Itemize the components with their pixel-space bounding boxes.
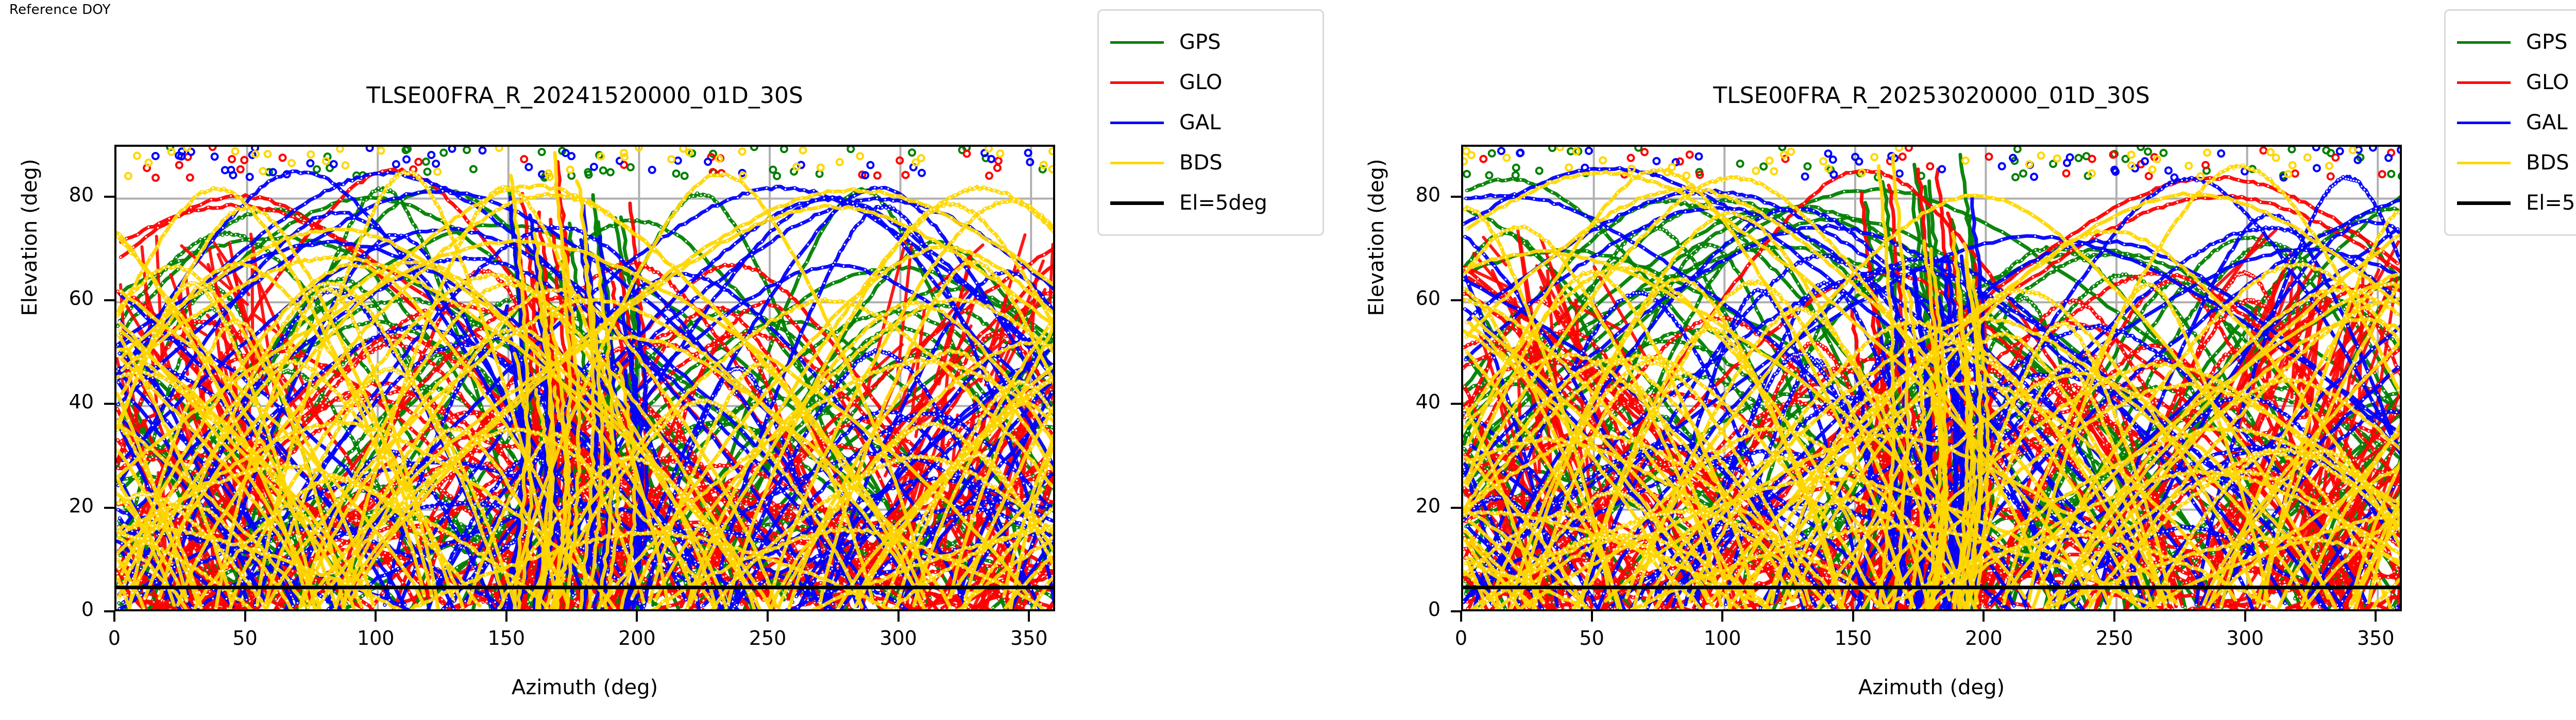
track-marker-hole	[435, 366, 436, 367]
track-marker-hole	[976, 393, 977, 395]
track-marker-hole	[117, 468, 119, 469]
high-elevation-marker	[781, 146, 787, 152]
track-marker-hole	[672, 461, 673, 462]
track-marker-hole	[1012, 429, 1014, 431]
track-marker-hole	[379, 347, 381, 349]
track-marker-hole	[229, 297, 231, 298]
track-marker-hole	[361, 289, 363, 291]
track-marker-hole	[752, 269, 753, 271]
track-marker-hole	[854, 611, 856, 611]
track-marker-hole	[858, 272, 860, 274]
track-marker-hole	[782, 348, 784, 350]
track-marker-hole	[992, 607, 994, 608]
track-marker-hole	[770, 331, 771, 333]
track-marker-hole	[401, 295, 403, 297]
chart-title-left: TLSE00FRA_R_20241520000_01D_30S	[114, 82, 1055, 109]
track-marker-hole	[778, 341, 780, 342]
track-marker-hole	[430, 427, 431, 429]
track-marker-hole	[521, 610, 523, 611]
track-marker-hole	[958, 284, 959, 285]
track-marker-hole	[836, 331, 838, 333]
track-marker-hole	[1055, 469, 1055, 470]
track-marker-hole	[235, 234, 236, 235]
track-marker-hole	[976, 316, 978, 318]
track-marker-hole	[685, 430, 686, 432]
track-marker-hole	[425, 440, 427, 442]
track-marker-hole	[656, 611, 658, 611]
track-marker-hole	[783, 521, 784, 522]
high-elevation-marker	[314, 166, 320, 173]
track-marker-hole	[376, 488, 378, 489]
track-marker-hole	[782, 289, 784, 291]
track-marker-hole	[1051, 426, 1053, 428]
track-marker-hole	[502, 406, 504, 408]
track-marker-hole	[636, 219, 638, 221]
track-marker-hole	[749, 312, 751, 313]
track-marker-hole	[698, 395, 699, 397]
track-marker-hole	[118, 602, 120, 604]
track-marker-hole	[212, 307, 213, 309]
track-marker-hole	[365, 322, 367, 323]
track-marker-hole	[510, 298, 512, 300]
track-marker-hole	[443, 408, 444, 409]
track-marker-hole	[710, 422, 711, 423]
y-axis-label-left: Elevation (deg)	[18, 57, 42, 418]
track-marker-hole	[763, 525, 765, 527]
track-marker-hole	[319, 402, 321, 404]
track-marker-hole	[623, 610, 625, 611]
track-marker-hole	[318, 431, 320, 432]
track-marker-hole	[771, 395, 772, 397]
track-marker-hole	[248, 239, 250, 241]
track-marker-hole	[773, 338, 774, 339]
track-marker-hole	[127, 594, 128, 596]
track-marker-hole	[159, 382, 160, 383]
track-marker-hole	[1054, 543, 1055, 544]
track-marker-hole	[846, 277, 848, 278]
track-marker-hole	[794, 338, 796, 339]
track-marker-hole	[963, 529, 964, 530]
track-marker-hole	[192, 303, 193, 304]
track-marker-hole	[1009, 609, 1010, 611]
track-marker-hole	[691, 610, 692, 611]
track-marker-hole	[998, 593, 1000, 595]
track-marker-hole	[728, 217, 730, 219]
track-marker-hole	[345, 234, 347, 236]
track-marker-hole	[352, 219, 354, 221]
track-marker-hole	[430, 214, 431, 216]
track-marker-hole	[697, 192, 698, 194]
track-marker-hole	[285, 370, 286, 372]
track-marker-hole	[1053, 405, 1055, 406]
track-marker-hole	[678, 442, 680, 443]
track-marker-hole	[649, 269, 650, 270]
track-marker-hole	[436, 277, 437, 278]
track-marker-hole	[389, 291, 391, 293]
track-marker-hole	[415, 298, 417, 300]
track-marker-hole	[198, 318, 200, 319]
track-marker-hole	[739, 505, 741, 506]
track-marker-hole	[714, 340, 715, 341]
track-marker-hole	[138, 477, 140, 478]
track-marker-hole	[393, 192, 394, 193]
x-tick-mark	[1028, 611, 1030, 622]
track-marker-hole	[668, 610, 669, 611]
track-marker-hole	[501, 440, 502, 441]
high-elevation-marker	[440, 150, 447, 156]
track-marker-hole	[1018, 495, 1020, 496]
track-marker-hole	[1048, 501, 1049, 502]
track-marker-hole	[768, 572, 770, 574]
track-marker-hole	[439, 359, 440, 361]
track-marker-hole	[846, 196, 848, 198]
track-marker-hole	[388, 403, 389, 405]
track-marker-hole	[718, 428, 720, 430]
x-tick-mark	[375, 611, 377, 622]
high-elevation-marker	[673, 170, 680, 177]
track-marker-hole	[306, 379, 307, 380]
track-marker-hole	[372, 191, 374, 192]
track-marker-hole	[853, 192, 854, 194]
track-marker-hole	[348, 391, 349, 393]
track-marker-hole	[406, 364, 408, 366]
track-marker-hole	[644, 222, 646, 224]
track-marker-hole	[433, 238, 435, 240]
track-marker-hole	[402, 346, 403, 347]
track-marker-hole	[331, 203, 332, 204]
track-marker-hole	[808, 404, 809, 405]
track-marker-hole	[451, 436, 453, 438]
track-marker-hole	[670, 605, 671, 606]
track-marker-hole	[349, 435, 351, 437]
track-marker-hole	[761, 372, 763, 374]
x-tick-mark	[113, 611, 115, 622]
track-marker-hole	[497, 425, 499, 426]
track-marker-hole	[312, 433, 314, 435]
track-marker-hole	[685, 410, 686, 412]
track-marker-hole	[703, 599, 704, 601]
track-marker-hole	[743, 610, 744, 611]
track-marker-hole	[435, 381, 436, 383]
track-marker-hole	[277, 238, 279, 239]
track-marker-hole	[998, 598, 999, 599]
x-tick-label: 350	[988, 627, 1070, 649]
track-marker-hole	[744, 330, 746, 332]
track-marker-hole	[290, 516, 292, 517]
track-marker-hole	[292, 371, 293, 372]
track-marker-hole	[898, 313, 900, 315]
track-marker-hole	[155, 457, 157, 459]
track-marker-hole	[510, 534, 512, 536]
track-marker-hole	[1054, 415, 1055, 416]
track-marker-hole	[859, 353, 860, 355]
track-marker-hole	[1054, 264, 1055, 265]
track-marker-hole	[408, 405, 409, 407]
track-marker-hole	[456, 208, 458, 209]
track-marker-hole	[225, 610, 226, 611]
track-marker-hole	[323, 510, 325, 512]
track-marker-hole	[691, 426, 693, 428]
track-marker-hole	[413, 331, 415, 332]
track-marker-hole	[862, 317, 863, 318]
track-marker-hole	[804, 297, 806, 299]
track-marker-hole	[371, 351, 373, 353]
track-marker-hole	[142, 293, 144, 295]
track-marker-hole	[261, 610, 263, 611]
track-marker-hole	[745, 503, 747, 504]
track-marker-hole	[498, 258, 500, 260]
track-marker-hole	[177, 520, 178, 521]
track-marker-hole	[315, 344, 316, 345]
track-marker-hole	[801, 367, 802, 368]
high-elevation-marker	[848, 146, 854, 152]
track-marker-hole	[508, 438, 510, 439]
track-marker-hole	[663, 457, 664, 459]
track-marker-hole	[901, 609, 902, 611]
track-marker-hole	[753, 429, 755, 431]
track-marker-hole	[351, 450, 353, 452]
track-marker-hole	[970, 608, 971, 610]
track-marker-hole	[945, 445, 946, 447]
track-marker-hole	[874, 489, 875, 490]
x-tick-mark	[897, 611, 900, 622]
track-marker-hole	[459, 393, 461, 395]
track-marker-hole	[433, 356, 435, 358]
tracks-left	[115, 145, 1055, 611]
track-marker-hole	[906, 328, 908, 330]
track-marker-hole	[372, 380, 374, 382]
track-marker-hole	[341, 380, 342, 381]
track-marker-hole	[817, 476, 818, 478]
track-marker-hole	[357, 446, 358, 448]
track-marker-hole	[645, 265, 646, 266]
track-marker-hole	[329, 420, 331, 421]
track-marker-hole	[817, 325, 819, 327]
track-marker-hole	[956, 605, 957, 606]
track-marker-hole	[867, 489, 869, 490]
track-marker-hole	[712, 197, 714, 198]
track-marker-hole	[926, 610, 927, 611]
track-marker-hole	[383, 213, 384, 215]
track-marker-hole	[1016, 479, 1018, 481]
track-marker-hole	[804, 488, 805, 489]
track-marker-hole	[750, 494, 752, 496]
track-marker-hole	[800, 464, 802, 465]
track-marker-hole	[483, 372, 485, 373]
track-marker-hole	[790, 558, 792, 559]
track-marker-hole	[390, 392, 392, 394]
track-marker-hole	[982, 323, 984, 324]
track-marker-hole	[342, 364, 344, 365]
track-marker-hole	[286, 326, 287, 328]
track-marker-hole	[452, 356, 454, 357]
track-marker-hole	[204, 237, 206, 239]
track-marker-hole	[822, 425, 823, 426]
track-marker-hole	[871, 269, 873, 270]
track-marker-hole	[383, 343, 385, 345]
track-marker-hole	[362, 201, 364, 202]
track-marker-hole	[724, 345, 725, 347]
track-marker-hole	[487, 519, 488, 521]
track-marker-hole	[1016, 527, 1018, 528]
track-marker-hole	[439, 371, 441, 372]
x-tick-label: 0	[73, 627, 156, 649]
x-tick-label: 250	[726, 627, 809, 649]
track-marker-hole	[230, 233, 232, 235]
track-marker-hole	[371, 299, 373, 300]
track-marker-hole	[234, 359, 235, 361]
track-marker-hole	[735, 288, 736, 289]
track-marker-hole	[475, 388, 477, 389]
track-marker-hole	[145, 236, 147, 237]
track-marker-hole	[529, 227, 531, 228]
track-marker-hole	[358, 439, 360, 441]
track-marker-hole	[430, 347, 432, 348]
track-marker-hole	[129, 321, 130, 322]
high-elevation-marker	[909, 149, 915, 156]
track-marker-hole	[244, 235, 245, 237]
track-marker-hole	[773, 507, 775, 509]
track-marker-hole	[844, 370, 845, 371]
track-marker-hole	[389, 323, 391, 324]
track-marker-hole	[220, 289, 222, 290]
high-elevation-marker	[751, 145, 757, 150]
track-marker-hole	[399, 200, 400, 202]
track-marker-hole	[440, 220, 442, 221]
track-marker-hole	[342, 540, 343, 541]
track-marker-hole	[795, 365, 797, 366]
track-marker-hole	[700, 195, 702, 196]
track-marker-hole	[451, 361, 453, 362]
track-marker-hole	[719, 464, 720, 466]
track-marker-hole	[790, 516, 791, 517]
track-marker-hole	[289, 223, 291, 225]
track-marker-hole	[666, 458, 667, 459]
track-marker-hole	[501, 529, 503, 530]
track-marker-hole	[826, 331, 828, 333]
track-marker-hole	[138, 313, 139, 314]
track-marker-hole	[722, 312, 723, 313]
track-marker-hole	[464, 421, 465, 422]
track-marker-hole	[416, 228, 417, 230]
track-marker-hole	[696, 353, 697, 354]
track-marker-hole	[357, 310, 359, 311]
track-marker-hole	[287, 370, 289, 371]
track-marker-hole	[737, 230, 739, 231]
track-marker-hole	[888, 374, 890, 375]
track-marker-hole	[1013, 610, 1014, 611]
track-marker-hole	[441, 598, 443, 600]
track-marker-hole	[377, 307, 379, 308]
y-tick-label: 40	[32, 390, 94, 413]
track-marker-hole	[200, 204, 202, 205]
track-marker-hole	[354, 364, 356, 366]
track-marker-hole	[445, 611, 447, 611]
track-marker-hole	[756, 579, 758, 580]
track-marker-hole	[581, 611, 582, 611]
track-marker-hole	[861, 412, 862, 413]
track-marker-hole	[277, 353, 279, 354]
track-marker-hole	[791, 441, 792, 442]
track-marker-hole	[321, 405, 323, 406]
track-marker-hole	[716, 201, 717, 203]
track-marker-hole	[301, 374, 302, 375]
track-marker-hole	[881, 611, 883, 611]
track-marker-hole	[337, 251, 339, 253]
track-marker-hole	[677, 566, 679, 568]
track-marker-hole	[121, 440, 122, 442]
track-marker-hole	[349, 224, 350, 226]
track-marker-hole	[685, 582, 686, 584]
track-marker-hole	[378, 187, 379, 189]
track-marker-hole	[598, 610, 599, 611]
track-marker-hole	[210, 199, 212, 200]
track-marker-hole	[347, 247, 348, 248]
track-marker-hole	[708, 195, 709, 196]
track-marker-hole	[393, 207, 394, 209]
track-marker-hole	[1053, 476, 1055, 478]
track-marker-hole	[694, 250, 696, 252]
track-marker-hole	[237, 308, 239, 310]
high-elevation-marker	[423, 159, 429, 165]
track-marker-hole	[1040, 462, 1041, 464]
track-marker-hole	[195, 243, 196, 244]
y-tick-label: 0	[32, 598, 94, 621]
track-marker-hole	[352, 281, 353, 282]
track-marker-hole	[342, 611, 344, 611]
track-marker-hole	[392, 335, 394, 337]
track-marker-hole	[465, 361, 467, 363]
track-marker-hole	[913, 249, 915, 250]
high-elevation-marker	[464, 147, 470, 153]
track-marker-hole	[819, 399, 820, 401]
track-marker-hole	[926, 334, 928, 336]
track-marker-hole	[847, 610, 849, 611]
track-marker-hole	[345, 327, 346, 328]
track-marker-hole	[203, 610, 205, 611]
track-marker-hole	[470, 322, 471, 323]
track-marker-hole	[406, 313, 408, 314]
x-tick-label: 50	[204, 627, 286, 649]
track-marker-hole	[506, 459, 508, 460]
track-marker-hole	[675, 289, 677, 290]
track-marker-hole	[406, 278, 408, 280]
track-marker-hole	[769, 399, 770, 400]
track-marker-hole	[671, 285, 672, 286]
track-marker-hole	[605, 227, 606, 229]
track-marker-hole	[660, 408, 662, 410]
track-marker-hole	[453, 545, 454, 547]
track-marker-hole	[822, 339, 824, 341]
track-marker-hole	[337, 466, 339, 468]
track-marker-hole	[731, 264, 733, 265]
track-marker-hole	[752, 258, 754, 259]
track-marker-hole	[319, 396, 321, 398]
track-marker-hole	[482, 385, 483, 386]
track-marker-hole	[501, 302, 503, 303]
track-marker-hole	[222, 290, 224, 292]
track-marker-hole	[932, 271, 934, 272]
track-marker-hole	[572, 581, 573, 583]
track-marker-hole	[349, 188, 350, 190]
track-marker-hole	[398, 301, 399, 302]
track-marker-hole	[596, 275, 597, 277]
track-marker-hole	[954, 331, 956, 332]
track-marker-hole	[642, 581, 644, 582]
track-marker-hole	[722, 421, 724, 423]
y-tick-label: 80	[32, 183, 94, 206]
track-marker-hole	[321, 209, 323, 210]
